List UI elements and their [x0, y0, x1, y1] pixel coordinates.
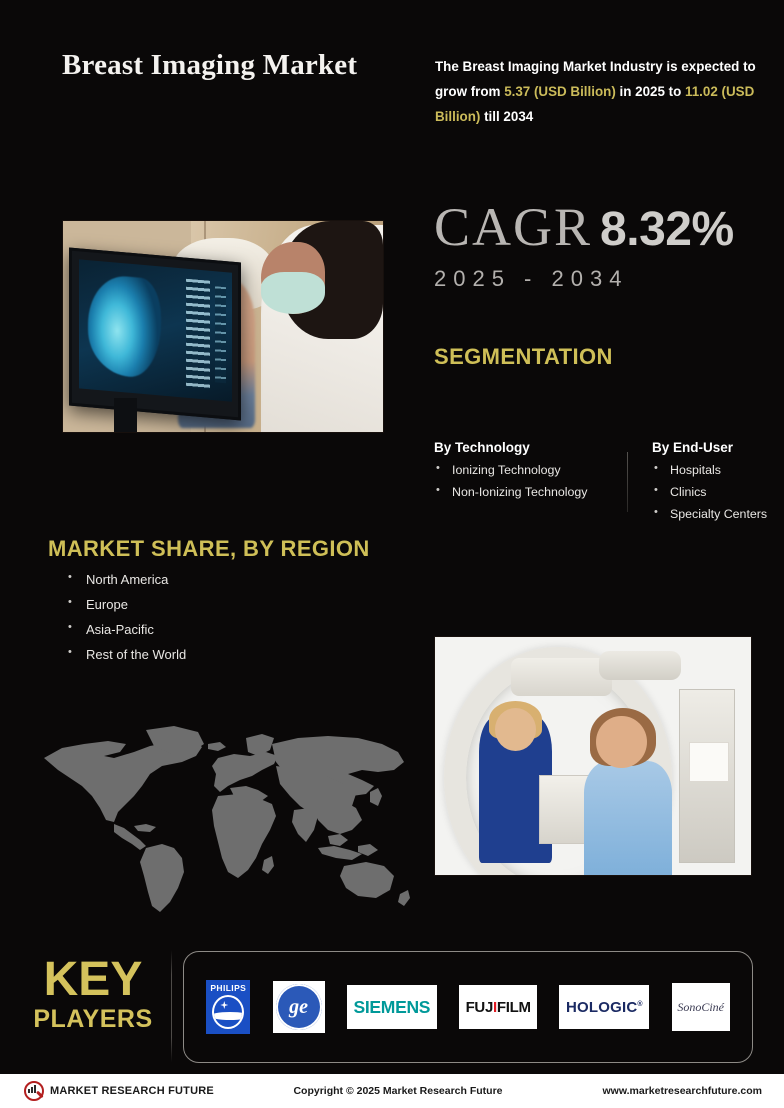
- siemens-wordmark: SIEMENS: [354, 997, 431, 1018]
- photo-monitor-screen: [79, 259, 232, 402]
- photo-patient-gown: [584, 761, 672, 875]
- philips-shield-icon: [212, 995, 244, 1029]
- list-item: Rest of the World: [64, 647, 186, 662]
- photo-scan-strip-2: [215, 286, 226, 382]
- footer-brand-name: MARKET RESEARCH FUTURE: [50, 1085, 214, 1097]
- world-map: [22, 700, 422, 930]
- photo-monitor: [69, 247, 241, 420]
- footer-website-url[interactable]: www.marketresearchfuture.com: [512, 1085, 762, 1097]
- hologic-wordmark: HOLOGIC®: [566, 999, 643, 1016]
- photo-machine-label: [689, 742, 729, 782]
- ge-monogram: ge: [276, 984, 322, 1030]
- fujifilm-part-b: FILM: [497, 999, 531, 1016]
- footer-bar: MARKET RESEARCH FUTURE Copyright © 2025 …: [0, 1074, 784, 1108]
- infographic-page: Breast Imaging Market The Breast Imaging…: [0, 0, 784, 1108]
- ge-logo: ge: [273, 981, 325, 1033]
- sonocine-logo: SonoCiné: [672, 983, 730, 1031]
- philips-wordmark: PHILIPS: [210, 983, 246, 993]
- philips-logo: PHILIPS: [206, 980, 250, 1034]
- photo-gantry-arm: [599, 651, 681, 680]
- philips-logo-inner: PHILIPS: [206, 980, 250, 1034]
- list-item: Asia-Pacific: [64, 622, 186, 637]
- fujifilm-wordmark: FUJIFILM: [466, 999, 531, 1016]
- list-item: Hospitals: [652, 463, 784, 477]
- footer-brand: MARKET RESEARCH FUTURE: [24, 1081, 284, 1101]
- siemens-logo: SIEMENS: [347, 985, 437, 1029]
- list-item: Specialty Centers: [652, 507, 784, 521]
- segment-list-technology: Ionizing Technology Non-Ionizing Technol…: [434, 463, 619, 499]
- summary-part-3: till 2034: [480, 109, 533, 124]
- cagr-line: CAGR8.32%: [434, 200, 764, 254]
- photo-technician-head: [495, 708, 536, 751]
- cagr-value: 8.32%: [600, 203, 734, 256]
- segmentation-column-technology: By Technology Ionizing Technology Non-Io…: [434, 440, 619, 507]
- mammography-machine-image: [434, 636, 752, 876]
- segment-title-technology: By Technology: [434, 440, 619, 455]
- hologic-text: HOLOGIC: [566, 999, 637, 1016]
- cagr-block: CAGR8.32% 2025 - 2034: [434, 200, 764, 292]
- fujifilm-logo: FUJIFILM: [459, 985, 537, 1029]
- list-item: North America: [64, 572, 186, 587]
- list-item: Clinics: [652, 485, 784, 499]
- segment-list-end-user: Hospitals Clinics Specialty Centers: [652, 463, 784, 521]
- key-players-title-key: KEY: [28, 956, 158, 1003]
- philips-wave-icon: [212, 1012, 244, 1020]
- key-players-title-players: PLAYERS: [28, 1005, 158, 1034]
- key-players-logo-row: PHILIPS ge SIEMENS FUJIFILM: [184, 952, 752, 1062]
- photo-mammogram-scan: [88, 272, 161, 379]
- page-title: Breast Imaging Market: [62, 46, 402, 84]
- segmentation-column-end-user: By End-User Hospitals Clinics Specialty …: [652, 440, 784, 529]
- region-list: North America Europe Asia-Pacific Rest o…: [64, 572, 186, 672]
- fujifilm-part-a: FUJ: [466, 999, 493, 1016]
- summary-part-2: in 2025 to: [616, 84, 685, 99]
- segmentation-heading: SEGMENTATION: [434, 344, 613, 370]
- photo-scan-strip: [186, 278, 210, 389]
- photo-clinician-mask: [261, 272, 325, 314]
- footer-copyright: Copyright © 2025 Market Research Future: [284, 1085, 512, 1097]
- photo-patient-head: [596, 716, 647, 768]
- region-heading: MARKET SHARE, BY REGION: [48, 536, 370, 562]
- list-item: Ionizing Technology: [434, 463, 619, 477]
- photo-gantry-head: [511, 658, 612, 696]
- key-players-divider: [171, 950, 172, 1062]
- magnifier-chart-icon: [24, 1081, 44, 1101]
- key-players-section: KEY PLAYERS PHILIPS ge: [0, 940, 784, 1074]
- key-players-logo-box: PHILIPS ge SIEMENS FUJIFILM: [183, 951, 753, 1063]
- photo-monitor-stand: [114, 398, 136, 432]
- market-value-2025: 5.37 (USD Billion): [504, 84, 616, 99]
- list-item: Europe: [64, 597, 186, 612]
- sonocine-wordmark: SonoCiné: [677, 1000, 724, 1015]
- cagr-period: 2025 - 2034: [434, 266, 764, 292]
- cagr-label: CAGR: [434, 197, 592, 257]
- philips-star-icon: [220, 1001, 228, 1009]
- market-summary-text: The Breast Imaging Market Industry is ex…: [435, 55, 775, 129]
- mammography-screening-image: [62, 220, 384, 433]
- key-players-title: KEY PLAYERS: [28, 956, 158, 1034]
- hologic-trademark: ®: [637, 1001, 642, 1008]
- list-item: Non-Ionizing Technology: [434, 485, 619, 499]
- hologic-logo: HOLOGIC®: [559, 985, 649, 1029]
- segment-title-end-user: By End-User: [652, 440, 784, 455]
- segmentation-divider: [627, 452, 628, 512]
